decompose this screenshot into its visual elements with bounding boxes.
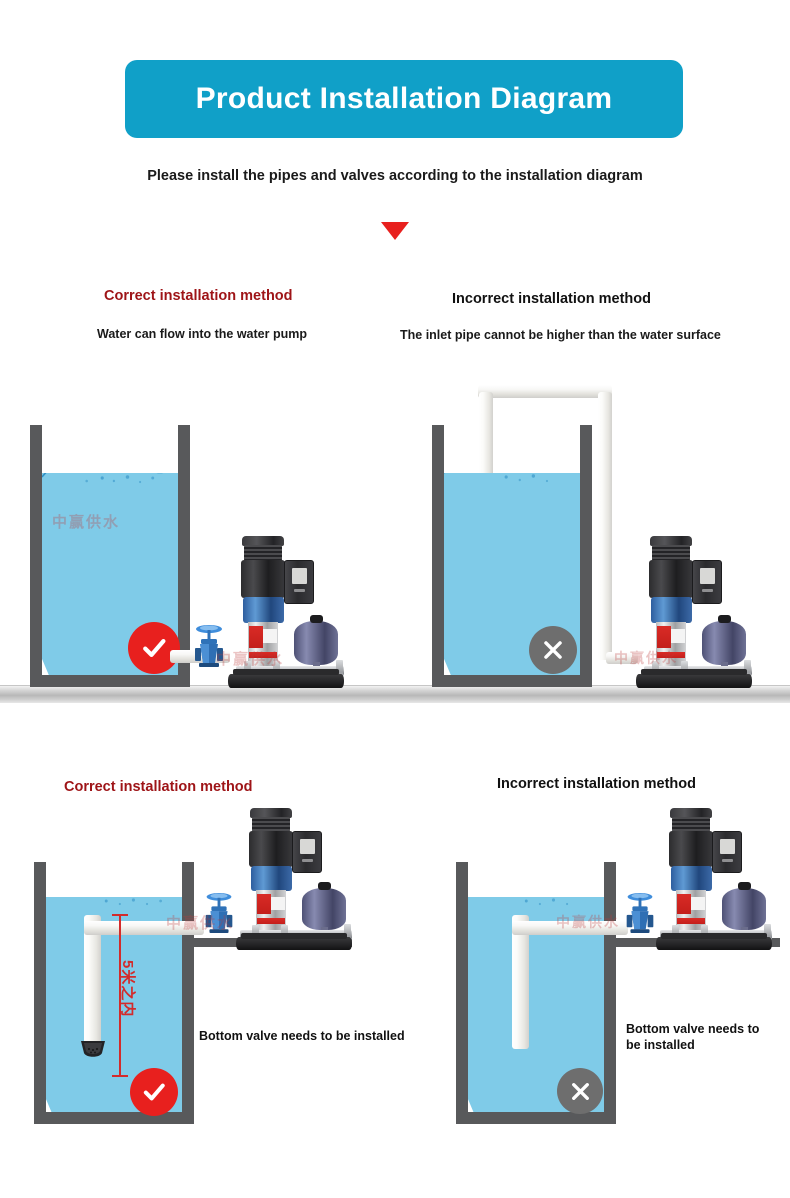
water-surface-wave [468,879,604,913]
pump-base-lip [641,669,748,675]
motor-cooling-fins [672,817,710,832]
pump-label-stripe [657,652,685,658]
pressure-tank [302,888,346,930]
vfd-buttons [294,589,305,592]
page-title-banner: Product Installation Diagram [125,60,683,138]
vfd-control-box [712,831,742,873]
gate-valve-bottom-right [620,890,660,936]
pressure-tank [722,888,766,930]
vfd-control-box [284,560,314,604]
pump-base-plate [636,674,752,688]
tank-wall-left [34,862,46,1124]
section-heading-bottom-left: Correct installation method [64,779,253,795]
tank-wall-right [182,862,194,1124]
pump-assembly-top-left: 中赢供水 [228,536,344,688]
caption-bottom-right: Bottom valve needs to be installed [626,1022,776,1053]
water-surface-wave [42,447,178,491]
watermark-text: 中赢供水 [52,511,120,532]
siphon-pipe-down-to-pump [598,392,612,660]
check-circle-icon-bottom-left [130,1068,178,1116]
pump-base-plate [228,674,344,688]
tank-wall-right [580,425,592,687]
pump-motor [649,560,693,598]
x-circle-icon-bottom-right [557,1068,603,1114]
pump-head [651,597,692,623]
page-subtitle: Please install the pipes and valves acco… [0,168,790,184]
tank-wall-left [30,425,42,687]
pump-assembly-bottom-left [236,808,352,950]
pressure-tank [702,621,746,665]
pump-label-red [257,894,271,914]
pump-label-stripe [677,918,705,924]
pump-head [671,866,712,891]
vfd-display [300,839,315,854]
vfd-display [292,568,307,584]
dimension-label: 5米之内 [118,960,139,1017]
pump-motor [669,831,713,867]
tank-wall-left [456,862,468,1124]
pump-base-lip [233,669,340,675]
pump-label-stripe [257,918,285,924]
pump-label-white [691,897,705,910]
pump-label-red [249,626,263,648]
siphon-pipe-horizontal-top [478,385,612,398]
pump-assembly-bottom-right [656,808,772,950]
pump-head [251,866,292,891]
vfd-buttons [722,859,733,862]
pump-label-red [657,626,671,648]
pump-label-stripe [249,652,277,658]
triangle-down-icon [381,222,409,240]
section-subheading-top-left: Water can flow into the water pump [97,327,307,341]
vfd-display [720,839,735,854]
tank-floor [456,1112,616,1124]
tank-floor [30,675,190,687]
pressure-tank [294,621,338,665]
tank-floor [34,1112,194,1124]
motor-cooling-fins [244,545,282,561]
gate-valve-top-left [188,622,230,670]
tank-floor [432,675,592,687]
vfd-buttons [702,589,713,592]
pressure-tank-cap [310,615,323,623]
suction-pipe-horizontal-bottom-left [84,921,204,935]
pump-label-white [263,629,277,643]
section-subheading-top-right: The inlet pipe cannot be higher than the… [400,328,721,342]
pressure-tank-cap [318,882,331,890]
pump-label-white [271,897,285,910]
suction-pipe-vertical-bottom-left [84,915,101,1051]
vfd-buttons [302,859,313,862]
check-circle-icon-top-left [128,622,180,674]
pressure-tank-cap [738,882,751,890]
section-heading-bottom-right: Incorrect installation method [497,776,696,792]
caption-bottom-left: Bottom valve needs to be installed [199,1029,405,1045]
pump-base-lip [241,933,348,939]
pump-base-lip [661,933,768,939]
suction-pipe-horizontal-bottom-right [512,921,628,935]
page-title: Product Installation Diagram [196,82,613,116]
pump-label-red [677,894,691,914]
dimension-cap-bottom [112,1075,128,1077]
suction-pipe-vertical-bottom-right [512,915,529,1049]
vfd-control-box [292,831,322,873]
motor-cooling-fins [652,545,690,561]
water-surface-wave [444,447,580,491]
gate-valve-bottom-left [199,890,239,936]
pump-inlet-pipe-top-right [606,652,638,664]
tank-wall-right [604,862,616,1124]
pump-assembly-top-right: 中赢供水 [636,536,752,688]
pump-head [243,597,284,623]
installation-diagram-page: Product Installation Diagram Please inst… [0,0,790,1198]
vfd-display [700,568,715,584]
x-circle-icon-top-right [529,626,577,674]
vfd-control-box [692,560,722,604]
section-heading-top-right: Incorrect installation method [452,291,651,307]
pump-motor [249,831,293,867]
pump-label-white [671,629,685,643]
water-surface-wave [46,879,182,913]
section-heading-top-left: Correct installation method [104,288,293,304]
pressure-tank-cap [718,615,731,623]
pump-motor [241,560,285,598]
motor-cooling-fins [252,817,290,832]
foot-valve-strainer-icon [78,1040,108,1062]
tank-wall-left [432,425,444,687]
